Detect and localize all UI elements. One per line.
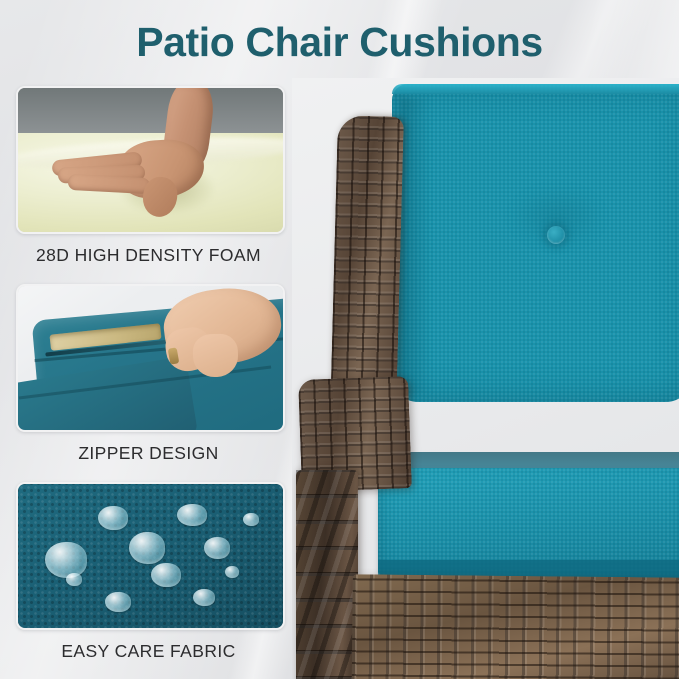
back-cushion-fold-shadow <box>400 98 430 394</box>
feature-list: 28D HIGH DENSITY FOAM ZIPPER DESIGN <box>16 86 281 679</box>
chair-front-leg-braided-wicker <box>296 470 358 679</box>
finger-thumb <box>192 333 239 378</box>
product-infographic-poster: Patio Chair Cushions 28D HIGH DENSITY FO… <box>0 0 679 679</box>
foam-hand-press-photo <box>16 86 285 234</box>
feature-label-foam: 28D HIGH DENSITY FOAM <box>16 234 281 275</box>
page-title: Patio Chair Cushions <box>0 19 679 66</box>
water-droplet <box>177 504 207 526</box>
water-droplet <box>45 542 87 578</box>
water-droplet <box>129 532 165 564</box>
water-droplet <box>225 566 239 578</box>
chair-base-wicker-skirt <box>351 574 679 679</box>
back-cushion-piping <box>392 84 679 94</box>
water-droplet <box>193 589 215 606</box>
feature-item-fabric: EASY CARE FABRIC <box>16 482 281 671</box>
water-droplet <box>105 592 131 612</box>
water-droplet <box>243 513 259 526</box>
water-beading-fabric-photo <box>16 482 285 630</box>
feature-item-zipper: ZIPPER DESIGN <box>16 284 281 473</box>
feature-label-fabric: EASY CARE FABRIC <box>16 630 281 671</box>
chair-back-wicker-post <box>330 115 404 417</box>
feature-label-zipper: ZIPPER DESIGN <box>16 432 281 473</box>
water-droplet <box>98 506 128 530</box>
foam-photo-gray-wall <box>18 88 283 137</box>
braid-twist-pattern <box>296 470 358 679</box>
tuft-pucker-shading <box>490 174 624 260</box>
feature-item-foam: 28D HIGH DENSITY FOAM <box>16 86 281 275</box>
water-droplet <box>66 573 82 586</box>
tufted-button <box>547 226 565 244</box>
zipper-cushion-photo <box>16 284 285 432</box>
patio-wicker-chair-photo <box>292 78 679 679</box>
water-droplet <box>151 563 181 587</box>
water-droplet <box>204 537 230 559</box>
